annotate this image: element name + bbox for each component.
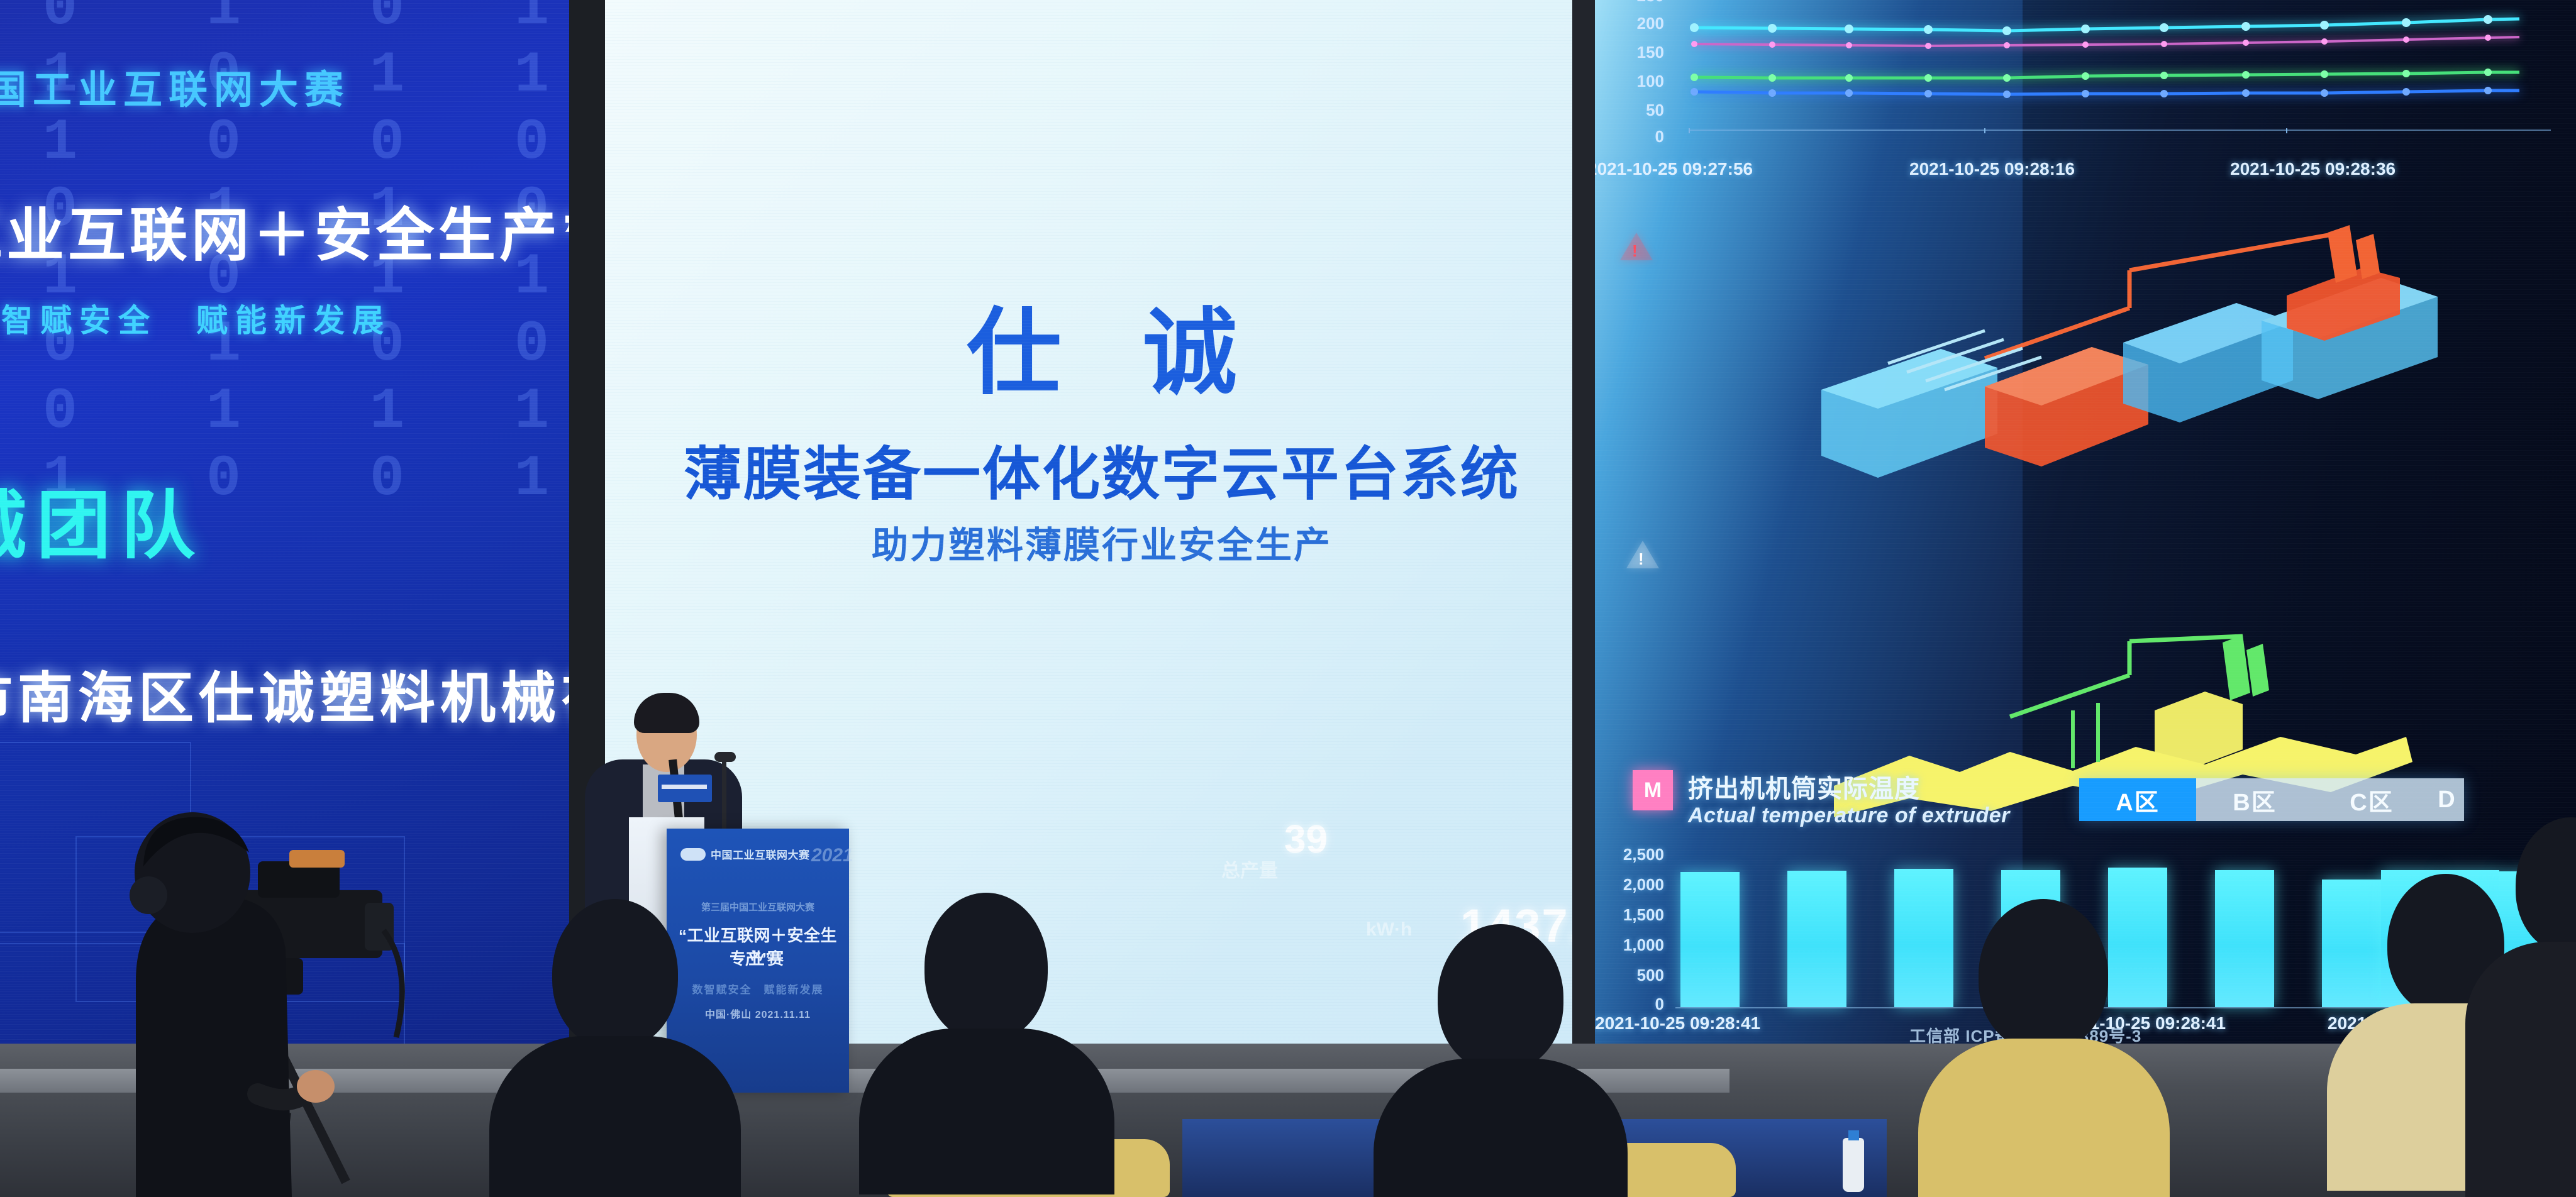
kpi-title-cn: 挤出机机筒实际温度: [1688, 768, 1920, 805]
binary-decor-3: 01011010: [352, 0, 421, 513]
bar-ytick-1000: 1,000: [1607, 935, 1664, 955]
line-ytick-150: 150: [1607, 43, 1664, 62]
banner-line-track: “工业互联网＋安全生产”专业赛: [0, 189, 569, 272]
tab-zone-d[interactable]: D: [2430, 778, 2464, 821]
podium-logo: 中国工业互联网大赛: [680, 846, 810, 862]
bar-item[interactable]: [1787, 871, 1846, 1007]
line-ytick-250: 250: [1607, 0, 1664, 6]
slide-ghost-label-2: kW·h: [1366, 919, 1412, 940]
line-xtick-3: 2021-10-25 09:28:36: [2230, 159, 2396, 179]
model-extruder-line-bottom[interactable]: [1802, 604, 2444, 842]
line-xtick-2: 2021-10-25 09:28:16: [1909, 159, 2075, 179]
binary-decor-1: 01101001: [25, 0, 94, 513]
water-bottle-cap: [1848, 1130, 1859, 1140]
bar-item[interactable]: [1680, 872, 1740, 1007]
banner-line-slogan: 数智赋安全 赋能新发展: [0, 295, 569, 341]
bar-ytick-1500: 1,500: [1607, 905, 1664, 925]
podium-logo-text: 中国工业互联网大赛: [711, 846, 810, 862]
podium-place-date: 中国·佛山 2021.11.11: [667, 1006, 849, 1021]
podium-year: 2021: [811, 845, 2567, 866]
line-chart-multiseries: [1595, 0, 2576, 163]
slide-title: 仕 诚: [605, 277, 1599, 413]
camera-operator-with-tripod: [69, 742, 421, 1197]
slide-subtitle: 薄膜装备一体化数字云平台系统: [605, 427, 1599, 511]
bar-item[interactable]: [1894, 869, 1953, 1007]
line-xtick-1: 2021-10-25 09:27:56: [1595, 159, 1753, 179]
warning-exclamation-1: !: [1632, 241, 1638, 261]
competition-logo-icon: [680, 848, 706, 861]
bar-ytick-500: 500: [1607, 966, 1664, 985]
gooseneck-microphone-head: [714, 752, 736, 762]
line-ytick-100: 100: [1607, 72, 1664, 91]
bar-ytick-2000: 2,000: [1607, 875, 1664, 895]
line-ytick-50: 50: [1607, 101, 1664, 120]
wall-gap-right: [1572, 0, 1595, 1044]
bar-xtick-1: 2021-10-25 09:28:41: [1595, 1013, 1760, 1034]
bar-item[interactable]: [2108, 868, 2167, 1007]
water-bottle: [1843, 1138, 1864, 1192]
kpi-title-en: Actual temperature of extruder: [1688, 803, 2010, 828]
podium-slogan: 数智赋安全 赋能新发展: [667, 981, 849, 996]
podium-pre-line: 第三届中国工业互联网大赛: [667, 900, 849, 913]
tab-zone-b[interactable]: B区: [2196, 778, 2313, 821]
binary-decor-2: 10010110: [189, 0, 258, 513]
tab-zone-a[interactable]: A区: [2079, 778, 2196, 821]
conference-stage-photo: 01101001 10010110 01011010 11001011 中国工业…: [0, 0, 2576, 1197]
slide-tagline: 助力塑料薄膜行业安全生产: [605, 516, 1599, 568]
kpi-badge-m: M: [1633, 770, 1673, 810]
gooseneck-microphone: [722, 758, 726, 834]
banner-track-main: “工业互联网＋安全生产”: [0, 204, 569, 268]
line-ytick-0: 0: [1607, 127, 1664, 146]
banner-line-competition: 中国工业互联网大赛: [0, 58, 569, 114]
line-ytick-200: 200: [1607, 14, 1664, 33]
microphone-flag-stripe: [662, 785, 707, 789]
warning-triangle-icon: [1620, 233, 1653, 260]
bar-item[interactable]: [2322, 880, 2381, 1007]
warning-triangle-icon: [1626, 541, 1659, 568]
model-extruder-line-top[interactable]: [1796, 207, 2463, 522]
banner-line-team: 仕诚团队: [0, 465, 569, 573]
headphone-cup: [130, 876, 167, 914]
binary-decor-4: 11001011: [497, 0, 566, 513]
bar-ytick-0: 0: [1607, 995, 1664, 1014]
banner-line-company: 佛山市南海区仕诚塑料机械有限公司: [0, 654, 569, 734]
bar-item[interactable]: [2215, 870, 2274, 1007]
podium-main-line-2: 专业赛: [667, 946, 849, 969]
tab-zone-c[interactable]: C区: [2313, 778, 2430, 821]
operator-hand: [297, 1070, 335, 1103]
dashboard-dark-overlay: [2023, 0, 2576, 1047]
zone-tab-group[interactable]: A区 B区 C区 D: [2079, 778, 2464, 821]
warning-exclamation-2: !: [1638, 549, 1644, 569]
